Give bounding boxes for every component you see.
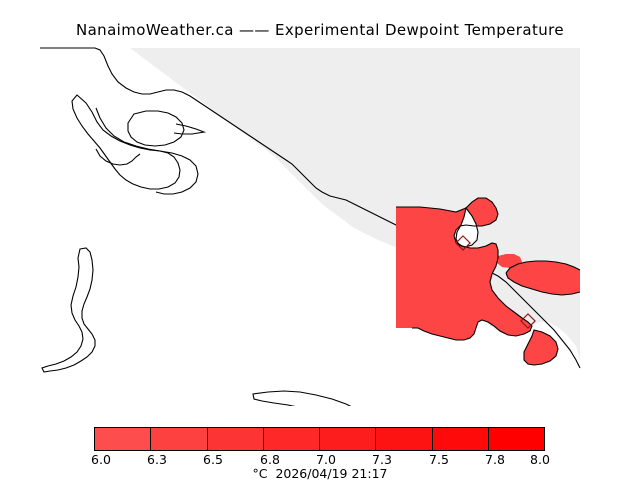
- map-svg: [0, 46, 640, 406]
- colorbar-tick-5: 7.3: [372, 452, 392, 467]
- colorbar-segment-2: [151, 428, 207, 450]
- colorbar-tick-2: 6.5: [203, 452, 223, 467]
- colorbar-segment-7: [433, 428, 489, 450]
- north-island-a: [128, 111, 184, 146]
- colorbar: 6.0 6.3 6.5 6.8 7.0 7.3 7.5 7.8 8.0 °C 2…: [0, 420, 640, 480]
- colorbar-segment-3: [208, 428, 264, 450]
- colorbar-strip: [94, 427, 545, 451]
- colorbar-tick-7: 7.8: [485, 452, 505, 467]
- page-title: NanaimoWeather.ca —— Experimental Dewpoi…: [0, 21, 640, 39]
- colorbar-segment-6: [376, 428, 432, 450]
- colorbar-segment-1: [95, 428, 151, 450]
- colorbar-tick-1: 6.3: [147, 452, 167, 467]
- colorbar-tick-8: 8.0: [530, 452, 550, 467]
- colorbar-segment-8: [489, 428, 544, 450]
- colorbar-tick-3: 6.8: [260, 452, 280, 467]
- colorbar-tick-6: 7.5: [429, 452, 449, 467]
- colorbar-caption: °C 2026/04/19 21:17: [0, 466, 640, 481]
- colorbar-segment-4: [264, 428, 320, 450]
- map-canvas: [0, 46, 640, 406]
- colorbar-tick-0: 6.0: [91, 452, 111, 467]
- colorbar-tick-4: 7.0: [316, 452, 336, 467]
- weather-map-page: NanaimoWeather.ca —— Experimental Dewpoi…: [0, 0, 640, 480]
- colorbar-segment-5: [320, 428, 376, 450]
